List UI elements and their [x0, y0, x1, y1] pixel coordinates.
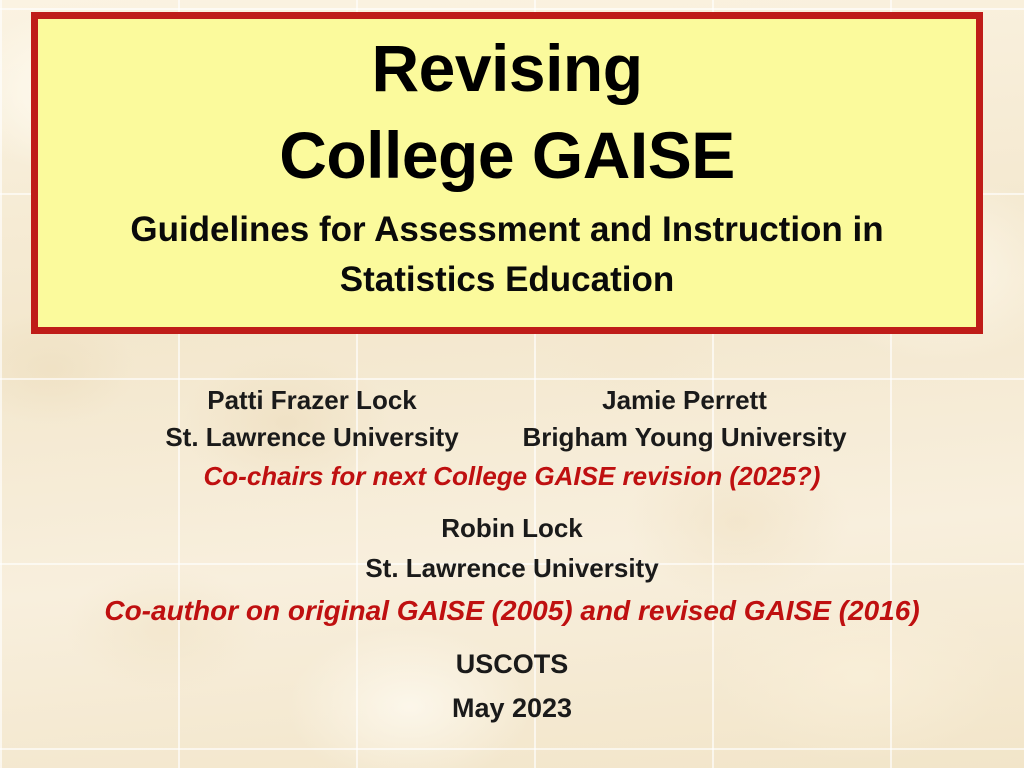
author-column-1: Patti Frazer Lock St. Lawrence Universit…: [140, 382, 485, 457]
author-affiliation: Brigham Young University: [522, 419, 846, 456]
presenters-block: Patti Frazer Lock St. Lawrence Universit…: [0, 382, 1024, 496]
title-line-1: Revising: [371, 25, 642, 112]
title-box: Revising College GAISE Guidelines for As…: [31, 12, 983, 334]
author-name: Robin Lock: [0, 508, 1024, 548]
author-name: Jamie Perrett: [602, 382, 767, 419]
conference-name: USCOTS: [0, 643, 1024, 687]
co-author-role-note: Co-author on original GAISE (2005) and r…: [0, 589, 1024, 634]
author-column-2: Jamie Perrett Brigham Young University: [485, 382, 885, 457]
author-columns: Patti Frazer Lock St. Lawrence Universit…: [0, 382, 1024, 457]
author-name: Patti Frazer Lock: [207, 382, 417, 419]
co-chairs-role-note: Co-chairs for next College GAISE revisio…: [0, 457, 1024, 496]
author-affiliation: St. Lawrence University: [0, 548, 1024, 588]
presentation-slide: Revising College GAISE Guidelines for As…: [0, 0, 1024, 768]
event-date: May 2023: [0, 687, 1024, 731]
second-author-block: Robin Lock St. Lawrence University Co-au…: [0, 508, 1024, 633]
title-subtitle: Guidelines for Assessment and Instructio…: [57, 205, 957, 304]
event-block: USCOTS May 2023: [0, 643, 1024, 730]
author-affiliation: St. Lawrence University: [165, 419, 458, 456]
title-line-2: College GAISE: [279, 112, 735, 199]
